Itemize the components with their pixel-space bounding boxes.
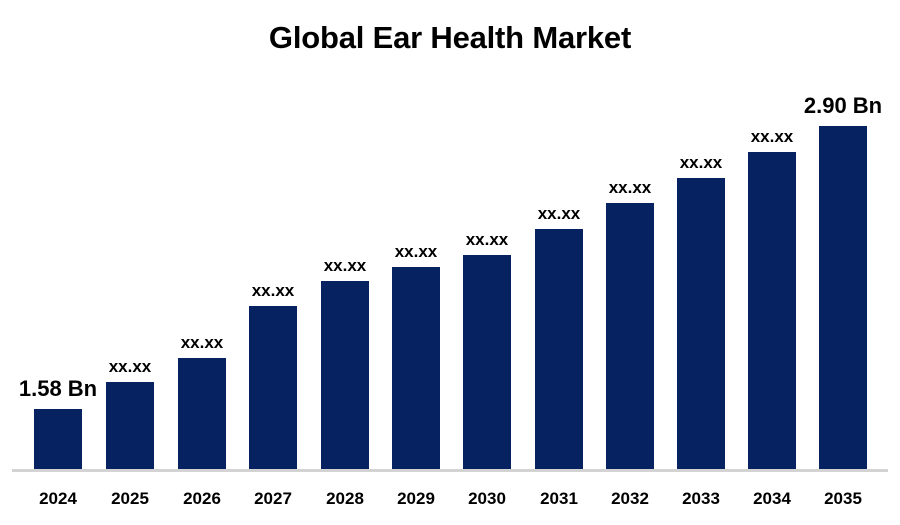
bar-value-label: xx.xx [138, 334, 266, 351]
bar[interactable] [748, 152, 796, 470]
bar-group[interactable]: xx.xx2032 [606, 0, 654, 525]
bar-value-label: xx.xx [566, 179, 694, 196]
bar-group[interactable]: xx.xx2031 [535, 0, 583, 525]
bar[interactable] [677, 178, 725, 470]
bar-group[interactable]: 2.90 Bn2035 [819, 0, 867, 525]
bar-group[interactable]: xx.xx2026 [178, 0, 226, 525]
bar[interactable] [819, 126, 867, 470]
bar-value-label: xx.xx [708, 128, 836, 145]
bar-value-label: xx.xx [637, 154, 765, 171]
bar-value-label: xx.xx [423, 231, 551, 248]
bar-group[interactable]: xx.xx2034 [748, 0, 796, 525]
x-axis-tick-label: 2035 [797, 490, 889, 507]
bar-value-label: xx.xx [495, 205, 623, 222]
bar-group[interactable]: 1.58 Bn2024 [34, 0, 82, 525]
x-axis-line [12, 469, 888, 472]
bar-value-label: 2.90 Bn [779, 95, 900, 117]
bar-chart: Global Ear Health Market 1.58 Bn2024xx.x… [0, 0, 900, 525]
bar[interactable] [606, 203, 654, 470]
bar[interactable] [34, 409, 82, 470]
bar[interactable] [106, 382, 154, 470]
bar[interactable] [249, 306, 297, 470]
bar-value-label: xx.xx [209, 282, 337, 299]
bar[interactable] [321, 281, 369, 470]
bar-group[interactable]: xx.xx2030 [463, 0, 511, 525]
bar-group[interactable]: xx.xx2028 [321, 0, 369, 525]
plot-area: 1.58 Bn2024xx.xx2025xx.xx2026xx.xx2027xx… [0, 0, 900, 525]
bar[interactable] [178, 358, 226, 470]
bar-value-label: xx.xx [66, 358, 194, 375]
bar-group[interactable]: xx.xx2033 [677, 0, 725, 525]
bar[interactable] [535, 229, 583, 470]
bar[interactable] [392, 267, 440, 470]
bar-group[interactable]: xx.xx2029 [392, 0, 440, 525]
bar[interactable] [463, 255, 511, 470]
bar-group[interactable]: xx.xx2025 [106, 0, 154, 525]
bar-value-label: 1.58 Bn [0, 378, 122, 400]
